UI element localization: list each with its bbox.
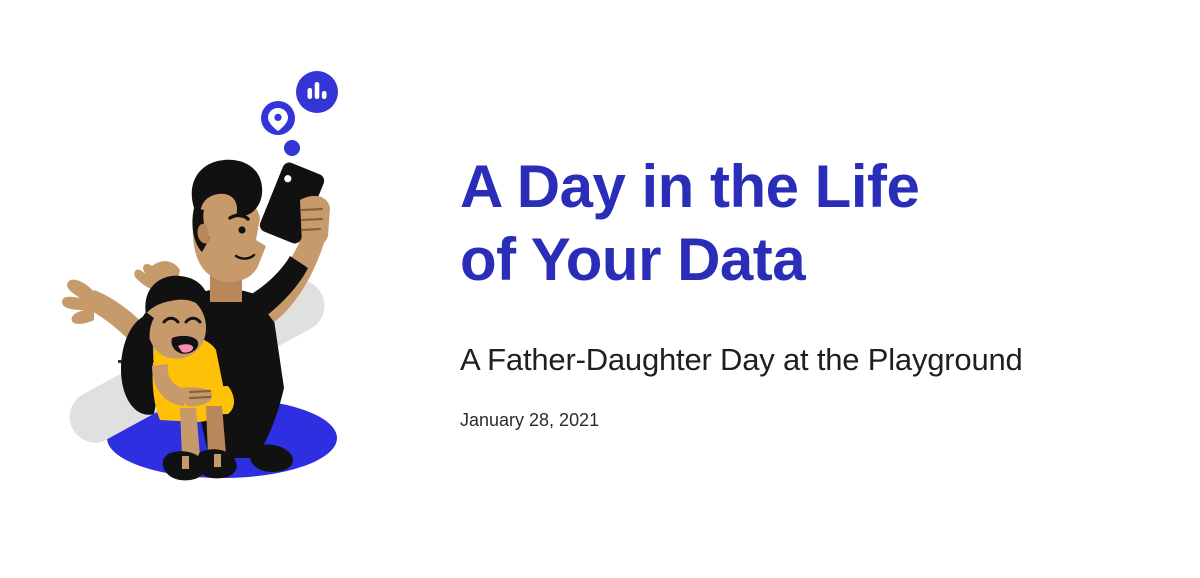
bar-chart-bubble — [296, 71, 338, 113]
publish-date: January 28, 2021 — [460, 381, 1160, 432]
illustration-svg — [60, 70, 380, 490]
location-pin-bubble — [261, 101, 295, 135]
page-subtitle: A Father-Daughter Day at the Playground — [460, 296, 1160, 380]
dot-bubble — [284, 140, 300, 156]
page-title: A Day in the Life of Your Data — [460, 150, 1160, 296]
father-daughter-selfie-illustration — [60, 70, 380, 490]
page-root: A Day in the Life of Your Data A Father-… — [0, 0, 1200, 578]
hero-section: A Day in the Life of Your Data A Father-… — [0, 0, 1200, 578]
smartphone — [258, 160, 330, 248]
hero-text-column: A Day in the Life of Your Data A Father-… — [460, 150, 1160, 432]
